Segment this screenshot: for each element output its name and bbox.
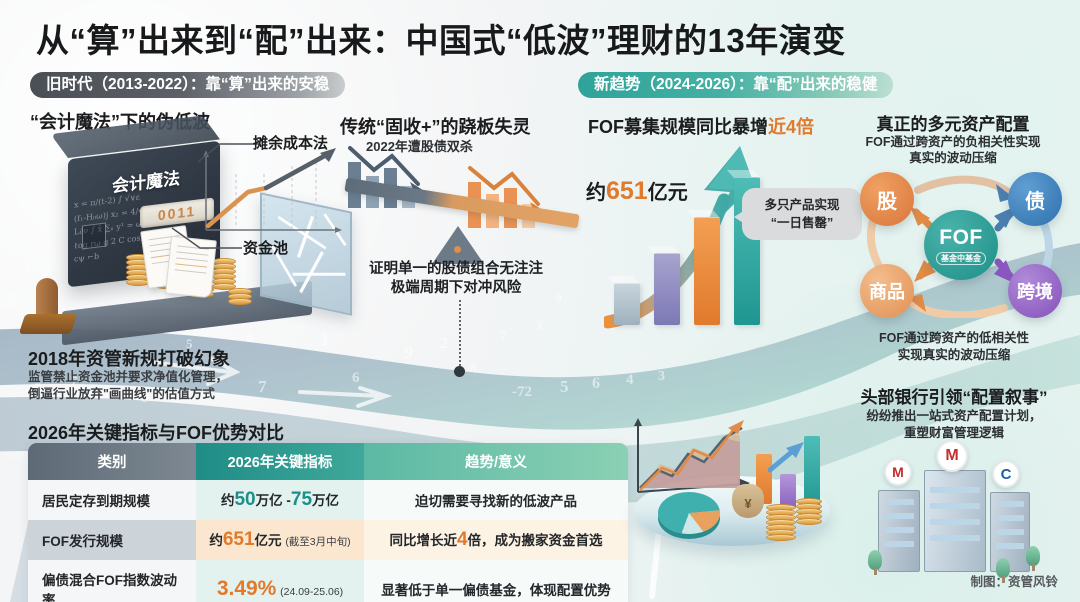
middle-heading: 传统“固收+”的跷板失灵: [340, 113, 531, 139]
table-header-category: 类别: [28, 443, 196, 480]
svg-text:-72: -72: [512, 384, 532, 400]
row0-trend-pre: 迫切需要寻找新的低波产品: [415, 494, 577, 509]
row0-metric: 约50万亿 -75万亿: [196, 480, 364, 520]
fof-sub-line2: 真实的波动压缩: [834, 150, 1072, 167]
callout-funding-pool: 资金池: [243, 237, 288, 258]
row2-metric: 3.49% (24.09-25.06): [196, 560, 364, 602]
platform-up-arrow: [768, 440, 814, 474]
row2-trend: 显著低于单一偏债基金，体现配置优势: [364, 560, 628, 602]
growth-bar: [694, 217, 720, 325]
infographic-poster: 4 5 6 7 3 6 9 2 8 7 3 9 -72 5 6 4 3 5 7 …: [0, 0, 1080, 602]
row1-trend-pre: 同比增长近: [389, 533, 457, 548]
row0-trend: 迫切需要寻找新的低波产品: [364, 480, 628, 520]
callout-line-pool: [170, 222, 246, 254]
tree-icon: [868, 550, 882, 570]
growth-heading-highlight: 近4倍: [768, 117, 814, 137]
bank-line1: 纷纷推出一站式资产配置计划，: [834, 408, 1074, 425]
fof-center-label: FOF: [939, 226, 983, 250]
svg-text:7: 7: [500, 329, 507, 344]
row1-metric-main: 651: [223, 529, 255, 550]
row0-category: 居民定存到期规模: [28, 480, 196, 520]
fof-node-center: FOF 基金中基金: [924, 210, 998, 280]
row2-trend-pre: 显著低于单一偏债基金，体现配置优势: [381, 583, 611, 598]
sellout-bubble: 多只产品实现 “一日售罄”: [742, 188, 862, 240]
svg-text:8: 8: [470, 360, 477, 375]
seesaw-illustration: [336, 140, 586, 280]
platform-pie-chart: [658, 492, 720, 534]
row0-metric-prefix: 约: [221, 493, 235, 508]
fof-node-commodity: 商品: [860, 264, 914, 318]
svg-text:3: 3: [536, 318, 543, 333]
fof-center-sublabel: 基金中基金: [936, 252, 986, 265]
left-footer-line1: 监管禁止资金池并要求净值化管理，: [28, 369, 228, 386]
row0-metric-mid: 万亿 -: [256, 493, 291, 508]
bank-building-left: [878, 490, 920, 572]
row2-category: 偏债混合FOF指数波动率: [28, 560, 196, 602]
svg-text:5: 5: [560, 377, 569, 396]
fof-asset-wheel: 股 债 商品 跨境 FOF 基金中基金: [858, 168, 1064, 318]
bank-logo-icon-right: C: [992, 460, 1020, 488]
bank-buildings-illustration: M M C: [868, 438, 1068, 578]
svg-text:3: 3: [658, 369, 665, 384]
bank-logo-icon-left: M: [884, 458, 912, 486]
svg-text:2: 2: [440, 335, 448, 352]
row1-trend-highlight: 4: [457, 529, 468, 550]
tree-icon: [1026, 546, 1040, 566]
fof-sub-line1: FOF通过跨资产的负相关性实现: [834, 134, 1072, 151]
bank-title: 头部银行引领“配置叙事”: [834, 383, 1074, 408]
section-badge-old-era: 旧时代（2013-2022）：靠“算”出来的安稳: [30, 72, 345, 98]
row0-metric-suffix: 万亿: [312, 493, 339, 508]
stamp-handle: [36, 278, 58, 318]
bubble-line2: “一日售罄”: [748, 214, 856, 232]
svg-text:6: 6: [352, 370, 360, 386]
callout-amortized-cost: 摊余成本法: [253, 132, 328, 153]
cube-icon: [82, 223, 106, 250]
seesaw-pivot-dot: [454, 246, 461, 253]
svg-text:8: 8: [8, 290, 17, 310]
platform-coin-stack: [796, 500, 822, 525]
row1-trend: 同比增长近4倍，成为搬家资金首选: [364, 520, 628, 560]
fof-foot-line2: 实现真实的波动压缩: [836, 347, 1072, 364]
row2-metric-main: 3.49%: [217, 577, 277, 600]
growth-bar: [614, 283, 640, 325]
fof-node-crossborder: 跨境: [1008, 264, 1062, 318]
row0-metric-main: 50: [234, 489, 255, 510]
money-bag-icon: ¥: [732, 484, 764, 518]
bank-building-center: [924, 470, 986, 572]
fof-node-equity: 股: [860, 172, 914, 226]
growth-heading-plain: FOF募集规模同比暴增: [588, 117, 768, 137]
stamp-base: [19, 314, 77, 334]
fof-heading: 真正的多元资产配置: [838, 110, 1068, 135]
table-header-metric: 2026年关键指标: [196, 443, 364, 480]
seesaw-fulcrum: [432, 226, 484, 264]
connector-dot: [454, 366, 465, 377]
connector-dotted-line: [459, 300, 461, 370]
analytics-platform-illustration: ¥: [620, 418, 850, 568]
table-header-row: 类别 2026年关键指标 趋势/意义: [28, 443, 628, 480]
svg-text:9: 9: [404, 342, 413, 362]
left-footer-title: 2018年资管新规打破幻象: [28, 345, 230, 371]
growth-bar: [654, 253, 680, 325]
row1-category: FOF发行规模: [28, 520, 196, 560]
fof-foot-line1: FOF通过跨资产的低相关性: [836, 330, 1072, 347]
row0-metric-main2: 75: [291, 489, 312, 510]
left-footer-line2: 倒逼行业放弃"画曲线"的估值方式: [28, 386, 215, 403]
row1-metric-note: (截至3月中旬): [285, 536, 350, 548]
row1-metric-suffix: 亿元: [255, 533, 282, 548]
metrics-table-wrap: 类别 2026年关键指标 趋势/意义 居民定存到期规模 约50万亿 -75万亿 …: [28, 443, 628, 602]
fof-node-bond: 债: [1008, 172, 1062, 226]
platform-bar: [780, 474, 796, 508]
svg-text:6: 6: [592, 375, 600, 392]
table-row: FOF发行规模 约651亿元 (截至3月中旬) 同比增长近4倍，成为搬家资金首选: [28, 520, 628, 560]
row1-trend-post: 倍，成为搬家资金首选: [468, 533, 603, 548]
metrics-table: 类别 2026年关键指标 趋势/意义 居民定存到期规模 约50万亿 -75万亿 …: [28, 443, 628, 602]
bank-logo-icon-center: M: [936, 440, 968, 472]
row1-metric: 约651亿元 (截至3月中旬): [196, 520, 364, 560]
table-row: 偏债混合FOF指数波动率 3.49% (24.09-25.06) 显著低于单一偏…: [28, 560, 628, 602]
page-title: 从“算”出来到“配”出来：中国式“低波”理财的13年演变: [36, 14, 1036, 62]
middle-note-line2: 极端周期下对冲风险: [346, 279, 566, 299]
credit-line: 制图：资管风铃: [970, 571, 1058, 590]
row2-metric-note: (24.09-25.06): [280, 586, 343, 598]
bubble-line1: 多只产品实现: [748, 196, 856, 214]
section-badge-new-trend: 新趋势（2024-2026）：靠“配”出来的稳健: [578, 72, 893, 98]
row1-metric-prefix: 约: [209, 533, 223, 548]
platform-coin-stack: [766, 506, 796, 541]
growth-heading: FOF募集规模同比暴增近4倍: [588, 113, 814, 139]
table-title: 2026年关键指标与FOF优势对比: [28, 419, 284, 445]
middle-note-line1: 证明单一的股债组合无注注: [346, 260, 566, 280]
table-row: 居民定存到期规模 约50万亿 -75万亿 迫切需要寻找新的低波产品: [28, 480, 628, 520]
coin-stack: [212, 260, 236, 290]
bank-building-right: [990, 492, 1030, 572]
svg-text:7: 7: [258, 377, 267, 396]
table-header-trend: 趋势/意义: [364, 443, 628, 480]
svg-text:4: 4: [626, 372, 634, 388]
coin-stack: [228, 290, 252, 305]
